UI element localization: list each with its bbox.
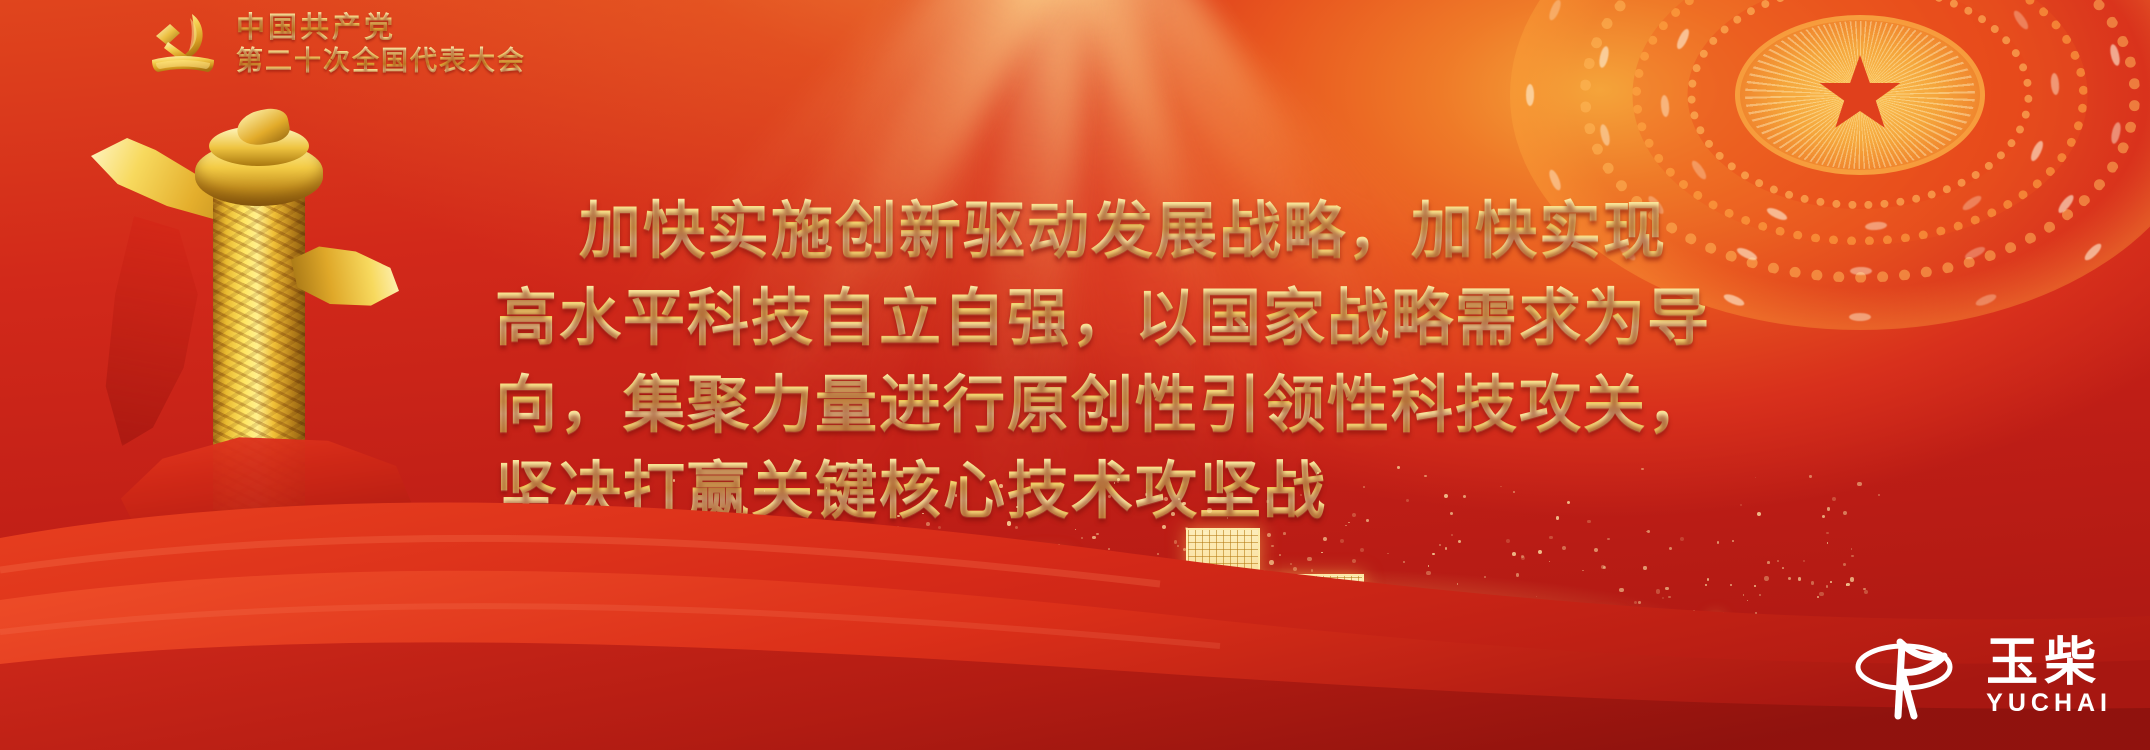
gold-sparkle — [1379, 628, 1380, 629]
gold-sparkle — [1058, 544, 1060, 546]
gold-sparkle — [1057, 615, 1061, 619]
gold-sparkle — [1392, 607, 1396, 611]
gold-sparkle — [1740, 504, 1742, 506]
gold-sparkle — [1321, 612, 1325, 616]
gold-sparkle — [1819, 592, 1823, 596]
gold-sparkle — [1274, 616, 1276, 618]
gold-sparkle — [657, 611, 661, 615]
gold-sparkle — [1851, 555, 1853, 557]
gold-sparkle — [804, 627, 808, 631]
rosette-light-dot — [1865, 221, 1888, 231]
gold-sparkle — [1217, 536, 1219, 538]
gold-sparkle — [675, 616, 678, 619]
gold-sparkle — [685, 562, 688, 565]
gold-sparkle — [1321, 552, 1322, 553]
golden-city-skyline — [860, 528, 1724, 678]
gold-sparkle — [684, 596, 688, 600]
gold-sparkle — [896, 627, 897, 628]
gold-sparkle — [1063, 628, 1066, 631]
huabiao-ribbon-back — [101, 216, 219, 446]
gold-sparkle — [1826, 585, 1828, 587]
red-star-icon — [1818, 55, 1902, 135]
gold-sparkle — [1011, 593, 1016, 598]
gold-sparkle — [1240, 611, 1244, 615]
slogan-block: 加快实施创新驱动发展战略，加快实现 高水平科技自立自强，以国家战略需求为导 向，… — [495, 188, 1725, 535]
gold-sparkle — [1271, 545, 1274, 548]
yuchai-logo: 玉柴 YUCHAI — [1854, 630, 2112, 722]
gold-sparkle — [883, 582, 886, 585]
gold-sparkle — [798, 622, 801, 625]
gold-sparkle — [728, 544, 730, 546]
gold-sparkle — [1451, 594, 1453, 596]
slogan-line-3: 向，集聚力量进行原创性引领性科技攻关， — [495, 362, 1725, 449]
gold-sparkle — [1232, 571, 1236, 575]
gold-sparkle — [888, 550, 891, 553]
gold-sparkle — [1619, 588, 1623, 592]
gold-sparkle — [777, 559, 779, 561]
gold-sparkle — [1351, 577, 1353, 579]
tech-icon-row — [1410, 614, 1724, 678]
gold-sparkle — [1665, 587, 1668, 590]
huabiao-shaft — [213, 190, 305, 582]
gold-sparkle — [1439, 544, 1441, 546]
gold-sparkle — [1277, 576, 1279, 578]
gold-sparkle — [1204, 613, 1208, 617]
gold-sparkle — [1635, 628, 1639, 632]
congress-title-line2: 第二十次全国代表大会 — [236, 46, 526, 77]
gold-sparkle — [935, 607, 937, 609]
gold-sparkle — [807, 542, 811, 546]
gold-sparkle — [1850, 577, 1855, 582]
gold-sparkle — [1210, 615, 1211, 616]
gold-sparkle — [1115, 595, 1117, 597]
gold-sparkle — [725, 579, 729, 583]
rosette-light-dot — [2029, 139, 2046, 162]
gold-sparkle — [1843, 563, 1846, 566]
gold-sparkle — [1428, 565, 1429, 566]
promotional-banner: 中国共产党 第二十次全国代表大会 加快实施创新驱动发展战略，加快实现 高水平科技… — [0, 0, 2150, 750]
huabiao-ribbon-front — [115, 394, 411, 574]
rosette-light-dot — [1722, 292, 1745, 308]
rosette-light-dot — [2109, 122, 2122, 145]
gold-sparkle — [768, 623, 772, 627]
gold-sparkle — [1506, 539, 1510, 543]
gold-sparkle — [1361, 612, 1365, 616]
gold-sparkle — [1340, 539, 1344, 543]
rosette-light-dot — [1961, 193, 1984, 212]
masthead: 中国共产党 第二十次全国代表大会 — [146, 8, 526, 80]
gold-sparkle — [1536, 596, 1537, 597]
gold-sparkle — [1535, 617, 1538, 620]
gold-sparkle — [1863, 588, 1865, 590]
rosette-ring-4 — [1688, 0, 2033, 209]
gold-sparkle — [1158, 594, 1160, 596]
gold-sparkle — [671, 569, 673, 571]
gold-sparkle — [812, 630, 815, 633]
gold-sparkle — [1327, 586, 1332, 591]
gold-sparkle — [861, 543, 863, 545]
gold-sparkle — [1387, 553, 1389, 555]
gold-sparkle — [1403, 561, 1405, 563]
skyline-tank-left — [1078, 602, 1124, 678]
rosette-light-dot — [2011, 9, 2030, 32]
rosette-light-dot — [1547, 0, 1563, 22]
gold-sparkle — [1191, 583, 1193, 585]
gold-sparkle — [1759, 594, 1761, 596]
gold-sparkle — [1656, 589, 1660, 593]
gold-sparkle — [1516, 573, 1520, 577]
gold-sparkle — [1290, 563, 1292, 565]
gold-sparkle — [982, 609, 986, 613]
gold-sparkle — [851, 550, 854, 553]
gold-sparkle — [1041, 626, 1045, 630]
gold-sparkle — [1484, 621, 1485, 622]
rosette-spokes — [1745, 21, 1975, 169]
gold-sparkle — [1204, 615, 1208, 619]
gold-sparkle — [1458, 540, 1461, 543]
gold-sparkle — [1827, 507, 1830, 510]
gold-sparkle — [1754, 585, 1756, 587]
gold-sparkle — [1607, 538, 1610, 541]
rosette-light-dot — [1849, 313, 1871, 321]
gold-sparkle — [964, 558, 965, 559]
gold-sparkle — [1112, 580, 1116, 584]
gold-sparkle — [1223, 594, 1225, 596]
gold-sparkle — [1123, 598, 1125, 600]
slogan-line-2: 高水平科技自立自强，以国家战略需求为导 — [495, 275, 1725, 362]
gold-sparkle — [1247, 612, 1251, 616]
skyline-highrise — [1186, 528, 1260, 678]
gold-sparkle — [1571, 621, 1575, 625]
gold-sparkle — [1743, 594, 1745, 596]
gold-sparkle — [1038, 550, 1041, 553]
monitor-chart-icon — [1494, 614, 1556, 672]
gold-sparkle — [1662, 597, 1663, 598]
gold-sparkle — [1512, 552, 1516, 556]
gold-sparkle — [1030, 555, 1034, 559]
gold-sparkle — [1122, 576, 1123, 577]
gold-sparkle — [821, 564, 825, 568]
gold-sparkle — [1648, 612, 1650, 614]
gold-sparkle — [1154, 566, 1156, 568]
gold-sparkle — [1180, 586, 1182, 588]
gold-sparkle — [1237, 590, 1238, 591]
gold-sparkle — [1183, 548, 1186, 551]
gold-sparkle — [1080, 624, 1083, 627]
gold-sparkle — [1531, 600, 1533, 602]
gold-sparkle — [1024, 547, 1028, 551]
gold-sparkle — [968, 598, 971, 601]
gold-sparkle — [1207, 625, 1209, 627]
gold-sparkle — [1730, 584, 1732, 586]
gold-sparkle — [802, 575, 804, 577]
gold-sparkle — [1269, 560, 1273, 564]
skyline-tank-right — [1128, 604, 1174, 678]
gold-sparkle — [1120, 602, 1122, 604]
gold-sparkle — [1811, 581, 1815, 585]
gold-sparkle — [668, 564, 671, 567]
gold-sparkle — [767, 625, 770, 628]
gold-sparkle — [972, 594, 976, 598]
gold-sparkle — [1323, 537, 1327, 541]
gold-sparkle — [1293, 567, 1297, 571]
huabiao-cloud-wing-right — [291, 240, 399, 322]
growth-chart-icon — [1662, 614, 1724, 672]
gold-sparkle — [720, 589, 724, 593]
congress-title: 中国共产党 第二十次全国代表大会 — [236, 11, 526, 78]
gold-sparkle — [1103, 629, 1107, 633]
gold-sparkle — [1557, 627, 1561, 631]
gold-sparkle — [1391, 629, 1394, 632]
gold-sparkle — [1755, 477, 1757, 479]
gold-sparkle — [1055, 619, 1057, 621]
gold-sparkle — [1092, 536, 1096, 540]
atom-icon — [1410, 614, 1472, 672]
slogan-line-1: 加快实施创新驱动发展战略，加快实现 — [495, 188, 1725, 275]
skyline-tower — [1024, 556, 1066, 678]
recycle-droplet-icon — [1578, 614, 1640, 672]
rosette-light-dot — [1674, 28, 1691, 51]
gold-sparkle — [1262, 570, 1266, 574]
gold-sparkle — [745, 624, 747, 626]
gold-sparkle — [1700, 612, 1702, 614]
gold-sparkle — [1668, 596, 1670, 598]
rosette-ring-core — [1735, 15, 1985, 175]
gold-sparkle — [1457, 583, 1459, 585]
gold-sparkle — [1594, 548, 1598, 552]
gold-sparkle — [1360, 548, 1364, 552]
gold-sparkle — [1857, 482, 1861, 486]
gold-sparkle — [1201, 608, 1205, 612]
gold-sparkle — [726, 559, 728, 561]
gold-sparkle — [835, 591, 837, 593]
gold-sparkle — [896, 606, 897, 607]
gold-sparkle — [1161, 575, 1163, 577]
gold-sparkle — [1692, 628, 1695, 631]
gold-sparkle — [1289, 593, 1292, 596]
yuchai-wordmark: 玉柴 YUCHAI — [1986, 637, 2112, 716]
gold-sparkle — [924, 580, 926, 582]
gold-sparkle — [1487, 605, 1491, 609]
gold-sparkle — [1732, 540, 1734, 542]
gold-sparkle — [879, 552, 882, 555]
gold-sparkle — [1299, 587, 1302, 590]
gold-sparkle — [1832, 497, 1836, 501]
gold-sparkle — [1680, 537, 1684, 541]
gold-sparkle — [763, 604, 766, 607]
gold-sparkle — [972, 542, 975, 545]
gold-sparkle — [1843, 511, 1847, 515]
rosette-light-dot — [1689, 158, 1708, 181]
gold-sparkle — [1549, 536, 1553, 540]
gold-sparkle — [1790, 625, 1792, 627]
gold-sparkle — [902, 576, 904, 578]
gold-sparkle — [1851, 548, 1853, 550]
gold-sparkle — [962, 617, 966, 621]
gold-sparkle — [1069, 625, 1072, 628]
gold-sparkle — [901, 618, 904, 621]
gold-sparkle — [1398, 587, 1402, 591]
gold-sparkle — [1020, 617, 1021, 618]
rosette-light-dot — [2109, 43, 2122, 66]
gold-sparkle — [1273, 627, 1275, 629]
yuchai-name-en: YUCHAI — [1986, 691, 2112, 716]
gold-sparkle — [757, 540, 760, 543]
gold-sparkle — [1095, 620, 1098, 623]
gold-sparkle — [1707, 578, 1709, 580]
gold-sparkle — [1152, 593, 1155, 596]
gold-sparkle — [753, 572, 755, 574]
gold-sparkle — [1484, 576, 1486, 578]
gold-sparkle — [1638, 601, 1641, 604]
gold-sparkle — [967, 628, 970, 631]
gold-sparkle — [732, 587, 734, 589]
gold-sparkle — [1339, 600, 1340, 601]
gold-sparkle — [652, 593, 655, 596]
gold-sparkle — [1878, 494, 1880, 496]
gold-sparkle — [1603, 623, 1606, 626]
gold-sparkle — [1719, 629, 1721, 631]
huabiao-capital-disc — [195, 142, 323, 206]
gold-sparkle — [1426, 571, 1430, 575]
gold-sparkle — [977, 611, 979, 613]
gold-sparkle — [1562, 546, 1566, 550]
gold-sparkle — [1643, 566, 1646, 569]
gold-sparkle — [1174, 540, 1177, 543]
huabiao-beast-finial — [234, 105, 292, 148]
gold-sparkle — [1521, 555, 1524, 558]
gold-sparkle — [994, 604, 997, 607]
gold-sparkle — [1723, 612, 1724, 613]
rosette-light-dot — [1736, 246, 1759, 263]
gold-sparkle — [1764, 576, 1769, 581]
gold-sparkle — [878, 611, 882, 615]
gold-sparkle — [1717, 541, 1720, 544]
gold-sparkle — [1263, 583, 1266, 586]
gold-sparkle — [1846, 583, 1850, 587]
gold-sparkle — [948, 621, 950, 623]
gold-sparkle — [1279, 554, 1281, 556]
rosette-light-dot — [1526, 84, 1534, 106]
huabiao-capital-disc-upper — [209, 126, 309, 166]
gold-sparkle — [1693, 610, 1695, 612]
gold-sparkle — [1246, 555, 1249, 558]
gold-sparkle — [709, 597, 713, 601]
gold-sparkle — [677, 591, 678, 592]
rosette-light-dot — [1975, 292, 1998, 308]
rosette-light-dot — [1850, 267, 1872, 275]
congress-title-line1: 中国共产党 — [236, 11, 526, 45]
gold-sparkle — [1157, 553, 1159, 555]
gold-sparkle — [1186, 584, 1189, 587]
gold-sparkle — [1108, 548, 1110, 550]
gold-sparkle — [1367, 618, 1371, 622]
gold-sparkle — [1432, 553, 1435, 556]
gold-sparkle — [1757, 512, 1762, 517]
gold-sparkle — [1755, 612, 1758, 615]
golden-huabiao-column — [95, 112, 395, 582]
gold-sparkle — [1014, 586, 1016, 588]
gold-sparkle — [1777, 560, 1779, 562]
gold-sparkle — [1123, 565, 1125, 567]
slogan-line-4: 坚决打赢关键核心技术攻坚战 — [495, 448, 1725, 535]
gold-sparkle — [1387, 624, 1391, 628]
gold-sparkle — [911, 541, 913, 543]
gold-sparkle — [1817, 596, 1819, 598]
gold-sparkle — [889, 535, 891, 537]
gold-sparkle — [775, 614, 779, 618]
gold-sparkle — [971, 550, 973, 552]
gold-sparkle — [1826, 532, 1829, 535]
gold-sparkle — [804, 610, 808, 614]
gold-sparkle — [1641, 610, 1645, 614]
gold-sparkle — [1597, 608, 1602, 613]
gold-sparkle — [987, 613, 990, 616]
gold-sparkle — [1429, 619, 1431, 621]
rosette-light-dot — [1598, 45, 1611, 68]
gold-sparkle — [1521, 628, 1523, 630]
gold-sparkle — [1846, 584, 1848, 586]
huabiao-dragon-carving — [213, 190, 305, 582]
rosette-light-dot — [2083, 241, 2104, 262]
gold-sparkle — [1803, 560, 1805, 562]
gold-sparkle — [989, 616, 993, 620]
gold-sparkle — [1177, 545, 1179, 547]
rosette-light-dot — [1598, 123, 1611, 146]
gold-sparkle — [1782, 567, 1784, 569]
gold-sparkle — [810, 621, 813, 624]
gold-sparkle — [1114, 556, 1118, 560]
gold-sparkle — [1495, 627, 1500, 632]
rosette-light-dot — [1660, 95, 1670, 118]
gold-sparkle — [1458, 593, 1460, 595]
wind-turbine-icon — [938, 546, 1012, 678]
gold-sparkle — [1788, 577, 1791, 580]
gold-sparkle — [1176, 569, 1178, 571]
gold-sparkle — [1827, 542, 1828, 543]
gold-sparkle — [992, 624, 994, 626]
gold-sparkle — [714, 627, 718, 631]
gold-sparkle — [809, 594, 811, 596]
gold-sparkle — [1198, 586, 1201, 589]
gold-sparkle — [1352, 559, 1356, 563]
gold-sparkle — [1802, 617, 1805, 620]
gold-sparkle — [1835, 627, 1838, 630]
gold-sparkle — [751, 588, 755, 592]
gold-sparkle — [809, 563, 813, 567]
gold-sparkle — [769, 566, 773, 570]
gold-sparkle — [1210, 593, 1213, 596]
gold-sparkle — [1798, 577, 1802, 581]
gold-sparkle — [1243, 581, 1247, 585]
gold-sparkle — [1604, 614, 1607, 617]
skyline-building — [860, 622, 926, 678]
gold-sparkle — [1252, 599, 1256, 603]
gold-sparkle — [1454, 605, 1455, 606]
gold-sparkle — [1311, 569, 1313, 571]
gold-sparkle — [1445, 547, 1447, 549]
gold-sparkle — [1603, 566, 1606, 569]
gold-sparkle — [747, 560, 751, 564]
gold-sparkle — [665, 618, 669, 622]
gold-sparkle — [656, 550, 658, 552]
gold-sparkle — [1229, 587, 1232, 590]
gold-sparkle — [1632, 607, 1635, 610]
gold-sparkle — [855, 595, 859, 599]
gold-sparkle — [1521, 556, 1525, 560]
rosette-light-dot — [1765, 205, 1788, 222]
gold-sparkle — [1081, 537, 1083, 539]
